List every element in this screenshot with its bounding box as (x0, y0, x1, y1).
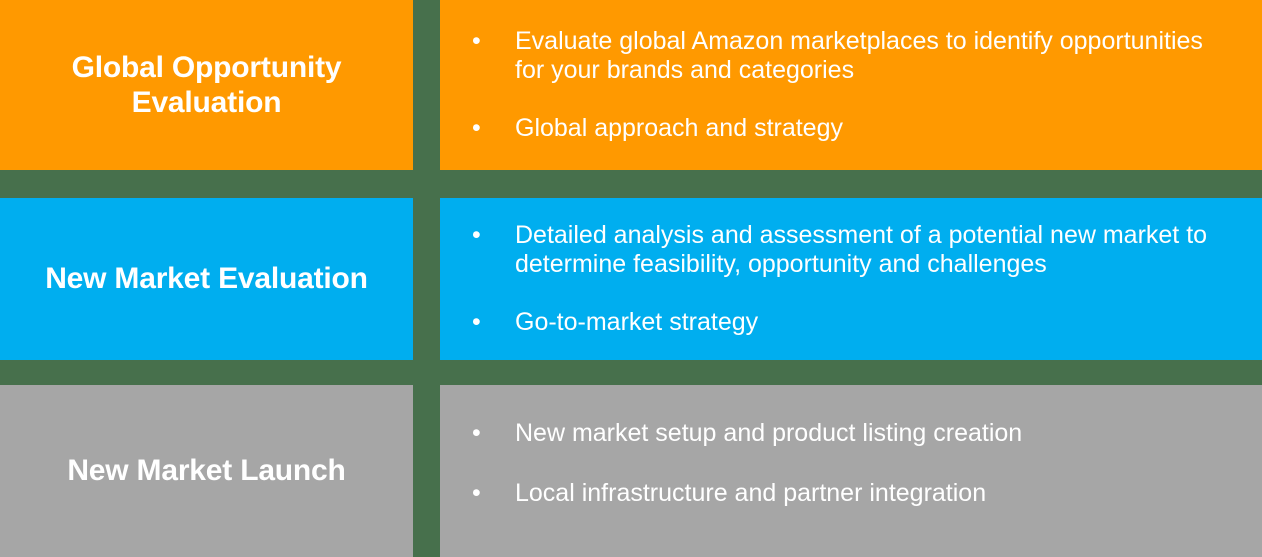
bullet-text: Local infrastructure and partner integra… (515, 479, 1232, 508)
list-item: • Evaluate global Amazon marketplaces to… (470, 27, 1232, 84)
service-row-global-opportunity-evaluation: Global Opportunity Evaluation • Evaluate… (0, 0, 1262, 170)
bullet-list-global-opportunity-evaluation: • Evaluate global Amazon marketplaces to… (470, 27, 1232, 143)
list-item: • Detailed analysis and assessment of a … (470, 221, 1232, 278)
bullet-text: Global approach and strategy (515, 114, 1232, 143)
bullet-text: Go-to-market strategy (515, 308, 1232, 337)
list-item: • Global approach and strategy (470, 114, 1232, 143)
bullet-point-icon: • (470, 419, 515, 448)
bullet-list-new-market-launch: • New market setup and product listing c… (470, 419, 1232, 540)
bullet-list-new-market-evaluation: • Detailed analysis and assessment of a … (470, 221, 1232, 337)
row-body-panel-new-market-launch: • New market setup and product listing c… (440, 385, 1262, 557)
service-row-new-market-evaluation: New Market Evaluation • Detailed analysi… (0, 198, 1262, 360)
bullet-point-icon: • (470, 479, 515, 508)
list-item: • Local infrastructure and partner integ… (470, 479, 1232, 508)
row-body-panel-new-market-evaluation: • Detailed analysis and assessment of a … (440, 198, 1262, 360)
bullet-text: Evaluate global Amazon marketplaces to i… (515, 27, 1232, 84)
service-tiers-slide: Global Opportunity Evaluation • Evaluate… (0, 0, 1262, 557)
row-title-global-opportunity-evaluation: Global Opportunity Evaluation (26, 50, 387, 121)
list-item: • New market setup and product listing c… (470, 419, 1232, 448)
row-title-new-market-launch: New Market Launch (67, 453, 345, 488)
row-title-new-market-evaluation: New Market Evaluation (45, 261, 368, 296)
row-body-panel-global-opportunity-evaluation: • Evaluate global Amazon marketplaces to… (440, 0, 1262, 170)
bullet-text: New market setup and product listing cre… (515, 419, 1232, 448)
row-title-panel-global-opportunity-evaluation: Global Opportunity Evaluation (0, 0, 413, 170)
list-item: • Go-to-market strategy (470, 308, 1232, 337)
bullet-point-icon: • (470, 114, 515, 143)
bullet-text: Detailed analysis and assessment of a po… (515, 221, 1232, 278)
service-row-new-market-launch: New Market Launch • New market setup and… (0, 385, 1262, 557)
row-title-panel-new-market-launch: New Market Launch (0, 385, 413, 557)
bullet-point-icon: • (470, 27, 515, 56)
bullet-point-icon: • (470, 308, 515, 337)
bullet-point-icon: • (470, 221, 515, 250)
row-title-panel-new-market-evaluation: New Market Evaluation (0, 198, 413, 360)
